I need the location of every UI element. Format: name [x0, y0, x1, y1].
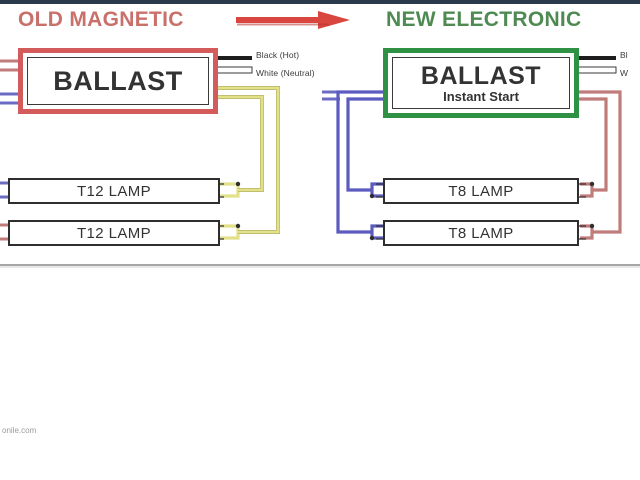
- new-blue-wires: [338, 92, 385, 238]
- new-ballast-sublabel: Instant Start: [443, 90, 519, 103]
- lamp-t8-2[interactable]: T8 LAMP: [383, 220, 579, 246]
- old-ballast-box[interactable]: BALLAST: [18, 48, 218, 114]
- old-ballast-label: BALLAST: [53, 68, 182, 95]
- old-ballast-inner: BALLAST: [27, 57, 209, 105]
- lamp-t8-1[interactable]: T8 LAMP: [383, 178, 579, 204]
- new-red-junction-2: [590, 224, 594, 228]
- new-red-junction-1: [590, 182, 594, 186]
- new-blue-junction-2: [370, 236, 374, 240]
- section-title-new: NEW ELECTRONIC: [386, 8, 606, 32]
- new-red-wires: [578, 92, 620, 238]
- new-ballast-label: BALLAST: [421, 64, 541, 89]
- wire-label-white-neutral-right: W: [620, 68, 628, 78]
- old-junction-dot-2: [236, 224, 240, 228]
- wire-label-black-hot-right: Bl: [620, 50, 628, 60]
- new-blue-junction-1: [370, 194, 374, 198]
- watermark: onile.com: [2, 426, 36, 435]
- old-junction-dot-1: [236, 182, 240, 186]
- old-yellow-wire-outline: [215, 86, 280, 233]
- section-title-old: OLD MAGNETIC: [18, 8, 228, 32]
- new-supply-wires: [578, 58, 616, 73]
- wire-label-white-neutral: White (Neutral): [256, 68, 315, 78]
- transition-arrow: [236, 11, 350, 29]
- lamp-t12-1[interactable]: T12 LAMP: [8, 178, 220, 204]
- new-ballast-box[interactable]: BALLAST Instant Start: [383, 48, 579, 118]
- diagram-canvas: OLD MAGNETIC NEW ELECTRONIC BALLAST BALL…: [0, 0, 640, 480]
- wire-label-black-hot: Black (Hot): [256, 50, 299, 60]
- old-yellow-wires: [215, 88, 278, 238]
- top-border: [0, 0, 640, 4]
- new-ballast-inner: BALLAST Instant Start: [392, 57, 570, 109]
- old-supply-wires: [215, 58, 252, 73]
- lamp-t12-2[interactable]: T12 LAMP: [8, 220, 220, 246]
